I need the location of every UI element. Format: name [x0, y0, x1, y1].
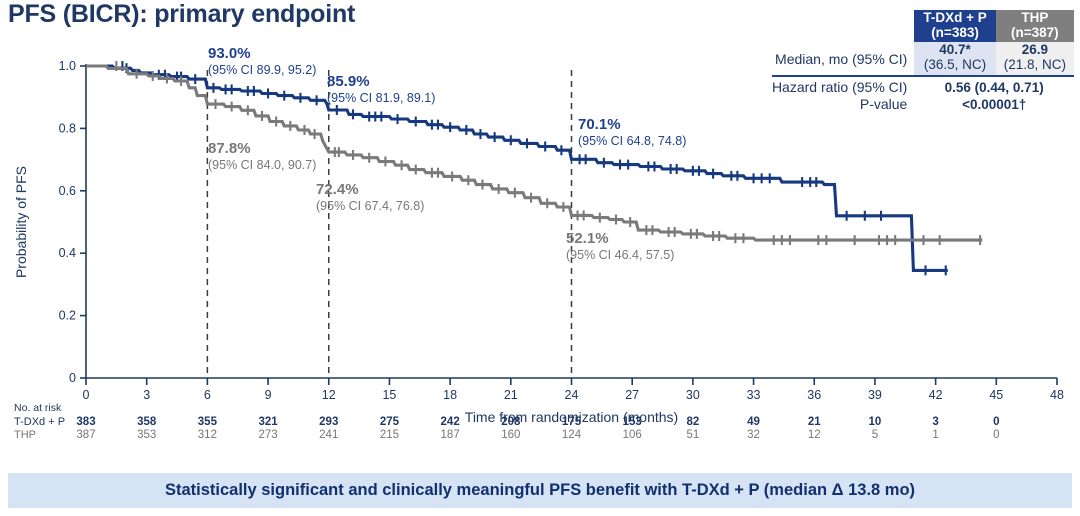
- y-tick-label: 1.0: [59, 59, 76, 73]
- milestone-percent: 70.1%: [578, 117, 686, 134]
- milestone-percent: 87.8%: [208, 141, 316, 158]
- y-tick-label: 0.4: [59, 246, 76, 260]
- risk-value: 355: [198, 416, 217, 428]
- summary-banner-text: Statistically significant and clinically…: [165, 481, 915, 500]
- x-tick-label: 21: [504, 388, 518, 402]
- risk-value: 51: [686, 429, 699, 441]
- x-tick-label: 24: [565, 388, 579, 402]
- x-tick-label: 30: [686, 388, 700, 402]
- x-tick-label: 27: [625, 388, 639, 402]
- risk-value: 160: [501, 429, 520, 441]
- x-tick-label: 18: [443, 388, 457, 402]
- milestone-percent: 52.1%: [566, 231, 674, 248]
- risk-value: 0: [993, 429, 999, 441]
- risk-value: 275: [380, 416, 399, 428]
- milestone-annotation-tdxdp-12mo: 85.9%(95% CI 81.9, 89.1): [327, 74, 435, 105]
- risk-value: 5: [872, 429, 878, 441]
- milestone-annotation-thp-12mo: 72.4%(95% CI 67.4, 76.8): [316, 182, 424, 213]
- x-tick-label: 0: [83, 388, 90, 402]
- risk-value: 215: [380, 429, 399, 441]
- risk-value: 3: [932, 416, 938, 428]
- milestone-annotation-tdxdp-24mo: 70.1%(95% CI 64.8, 74.8): [578, 117, 686, 148]
- x-tick-label: 9: [265, 388, 272, 402]
- risk-value: 387: [76, 429, 95, 441]
- milestone-percent: 93.0%: [208, 46, 316, 63]
- risk-value: 1: [932, 429, 938, 441]
- km-plot-container: 00.20.40.60.81.0Probability of PFS036912…: [0, 0, 1080, 470]
- x-tick-label: 48: [1050, 388, 1064, 402]
- risk-value: 358: [137, 416, 156, 428]
- risk-value: 273: [258, 429, 277, 441]
- risk-value: 32: [747, 429, 760, 441]
- risk-value: 293: [319, 416, 338, 428]
- x-tick-label: 36: [807, 388, 821, 402]
- risk-value: 208: [501, 416, 520, 428]
- y-axis-title: Probability of PFS: [13, 166, 29, 278]
- risk-value: 175: [562, 416, 581, 428]
- milestone-ci: (95% CI 89.9, 95.2): [208, 63, 316, 77]
- risk-value: 312: [198, 429, 217, 441]
- x-tick-label: 33: [747, 388, 761, 402]
- risk-value: 49: [747, 416, 760, 428]
- x-tick-label: 39: [868, 388, 882, 402]
- risk-value: 187: [441, 429, 460, 441]
- x-tick-label: 42: [929, 388, 943, 402]
- risk-value: 242: [441, 416, 460, 428]
- y-tick-label: 0.8: [59, 121, 76, 135]
- milestone-ci: (95% CI 81.9, 89.1): [327, 91, 435, 105]
- milestone-ci: (95% CI 46.4, 57.5): [566, 248, 674, 262]
- summary-banner: Statistically significant and clinically…: [8, 473, 1072, 508]
- milestone-ci: (95% CI 84.0, 90.7): [208, 158, 316, 172]
- milestone-ci: (95% CI 64.8, 74.8): [578, 134, 686, 148]
- risk-value: 82: [686, 416, 699, 428]
- x-tick-label: 12: [322, 388, 336, 402]
- risk-value: 21: [808, 416, 821, 428]
- risk-value: 12: [808, 429, 821, 441]
- risk-value: 241: [319, 429, 338, 441]
- risk-value: 383: [76, 416, 95, 428]
- milestone-ci: (95% CI 67.4, 76.8): [316, 199, 424, 213]
- milestone-annotation-tdxdp-6mo: 93.0%(95% CI 89.9, 95.2): [208, 46, 316, 77]
- risk-table-header: No. at risk: [14, 402, 61, 414]
- milestone-annotation-thp-24mo: 52.1%(95% CI 46.4, 57.5): [566, 231, 674, 262]
- risk-value: 106: [623, 429, 642, 441]
- milestone-annotation-thp-6mo: 87.8%(95% CI 84.0, 90.7): [208, 141, 316, 172]
- risk-value: 10: [869, 416, 882, 428]
- risk-value: 353: [137, 429, 156, 441]
- risk-value: 0: [993, 416, 999, 428]
- x-tick-label: 45: [989, 388, 1003, 402]
- risk-value: 153: [623, 416, 642, 428]
- milestone-percent: 72.4%: [316, 182, 424, 199]
- risk-value: 321: [258, 416, 277, 428]
- risk-row-label-tdxd: T-DXd + P: [14, 416, 65, 428]
- x-tick-label: 6: [204, 388, 211, 402]
- x-tick-label: 3: [143, 388, 150, 402]
- risk-row-label-thp: THP: [14, 429, 36, 441]
- y-tick-label: 0: [69, 371, 76, 385]
- x-tick-label: 15: [382, 388, 396, 402]
- milestone-percent: 85.9%: [327, 74, 435, 91]
- y-tick-label: 0.6: [59, 184, 76, 198]
- y-tick-label: 0.2: [59, 309, 76, 323]
- km-chart: 00.20.40.60.81.0Probability of PFS036912…: [0, 0, 1080, 470]
- risk-value: 124: [562, 429, 581, 441]
